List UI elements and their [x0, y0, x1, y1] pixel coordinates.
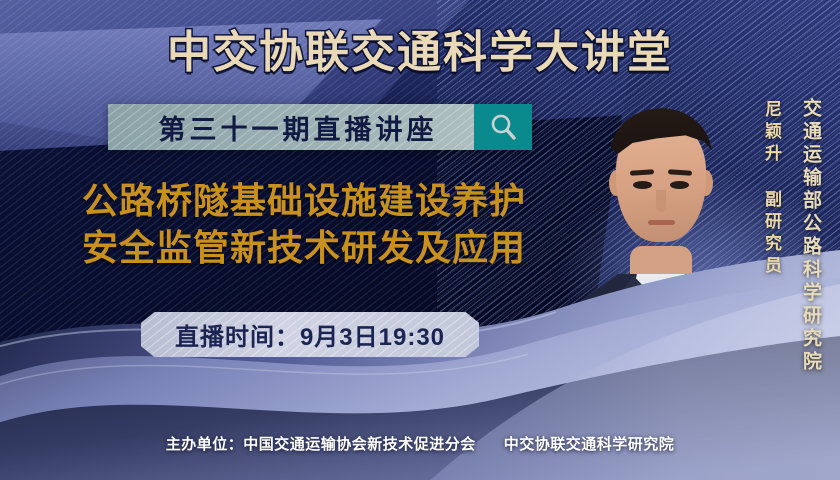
speaker-name-title: 尼颖升 副研究员	[759, 100, 784, 278]
page-title: 中交协联交通科学大讲堂	[0, 16, 840, 80]
portrait-mouth	[648, 220, 675, 225]
footer-credits: 主办单位：中国交通运输协会新技术促进分会中交协联交通科学研究院	[0, 433, 840, 454]
search-button[interactable]	[474, 104, 532, 150]
footer-institute: 中交协联交通科学研究院	[504, 436, 675, 453]
schedule-badge: 直播时间：9月3日19:30	[141, 312, 479, 357]
portrait-eye-left	[633, 181, 652, 189]
speaker-organization: 交通运输部公路科学研究院	[797, 98, 824, 374]
episode-banner: 第三十一期直播讲座	[108, 104, 532, 150]
lecture-headline: 公路桥隧基础设施建设养护 安全监管新技术研发及应用	[30, 178, 578, 272]
headline-line-2: 安全监管新技术研发及应用	[30, 225, 578, 272]
headline-line-1: 公路桥隧基础设施建设养护	[30, 178, 578, 225]
episode-label: 第三十一期直播讲座	[108, 104, 474, 150]
portrait-nose	[656, 190, 666, 212]
footer-organizer: 主办单位：中国交通运输协会新技术促进分会	[166, 436, 476, 453]
schedule-label: 直播时间：9月3日19:30	[175, 317, 445, 352]
live-stream-poster: 中交协联交通科学大讲堂 第三十一期直播讲座 公路桥隧基础设施建设养护 安全监管新…	[0, 0, 840, 480]
portrait-eye-right	[670, 181, 689, 189]
search-icon	[488, 112, 518, 142]
